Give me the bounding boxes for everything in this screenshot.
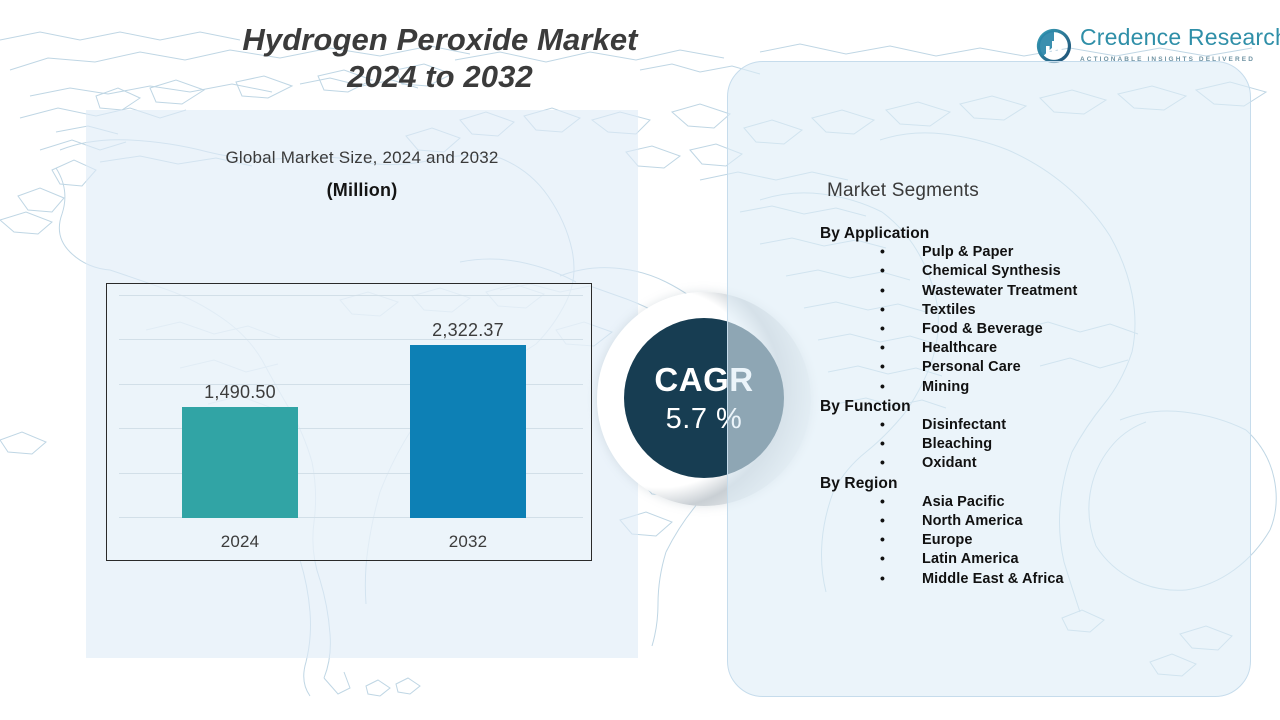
segment-item-list: DisinfectantBleachingOxidant [820,416,1240,474]
chart-gridline [119,339,583,340]
segment-item-list: Pulp & PaperChemical SynthesisWastewater… [820,243,1240,397]
chart-subtitle: (Million) [86,180,638,201]
chart-bar-rect [410,345,526,518]
segment-item: Textiles [820,301,1240,320]
chart-bar-value: 2,322.37 [432,320,504,341]
segment-item: Asia Pacific [820,493,1240,512]
chart-bar: 2,322.372032 [410,345,526,518]
segment-item: Latin America [820,550,1240,569]
logo-name: Credence Research [1080,24,1280,50]
segment-item: Pulp & Paper [820,243,1240,262]
segments-heading: Market Segments [827,180,979,202]
segment-group-title: By Function [820,397,1240,416]
segment-item: Mining [820,378,1240,397]
title-line-1: Hydrogen Peroxide Market [242,22,637,57]
segment-item: Disinfectant [820,416,1240,435]
chart-bar-rect [182,407,298,518]
segment-group-title: By Application [820,224,1240,243]
chart-bar-label: 2032 [449,532,488,552]
title-line-2: 2024 to 2032 [120,59,760,96]
segments-list: By ApplicationPulp & PaperChemical Synth… [820,224,1240,589]
chart-gridline [119,295,583,296]
chart-bar-label: 2024 [221,532,260,552]
segment-group-title: By Region [820,474,1240,493]
segment-item: Food & Beverage [820,320,1240,339]
bar-chart: 1,490.5020242,322.372032 [106,283,592,561]
infographic-canvas: Hydrogen Peroxide Market 2024 to 2032 Cr [0,0,1280,720]
chart-plot-area: 1,490.5020242,322.372032 [107,284,591,560]
segment-item-list: Asia PacificNorth AmericaEuropeLatin Ame… [820,493,1240,589]
segment-item: Wastewater Treatment [820,282,1240,301]
chart-title: Global Market Size, 2024 and 2032 [86,148,638,168]
segment-item: Oxidant [820,454,1240,473]
segment-item: Bleaching [820,435,1240,454]
segment-item: Healthcare [820,339,1240,358]
page-title: Hydrogen Peroxide Market 2024 to 2032 [120,22,760,95]
chart-bar: 1,490.502024 [182,407,298,518]
segment-item: North America [820,512,1240,531]
bar-chart-circle-icon [1036,28,1072,64]
segment-item: Chemical Synthesis [820,262,1240,281]
segment-item: Middle East & Africa [820,570,1240,589]
logo-text-block: Credence Research Actionable Insights De… [1080,26,1280,65]
chart-bar-value: 1,490.50 [204,382,276,403]
brand-logo[interactable]: Credence Research Actionable Insights De… [1036,26,1280,65]
segment-item: Personal Care [820,358,1240,377]
segment-item: Europe [820,531,1240,550]
